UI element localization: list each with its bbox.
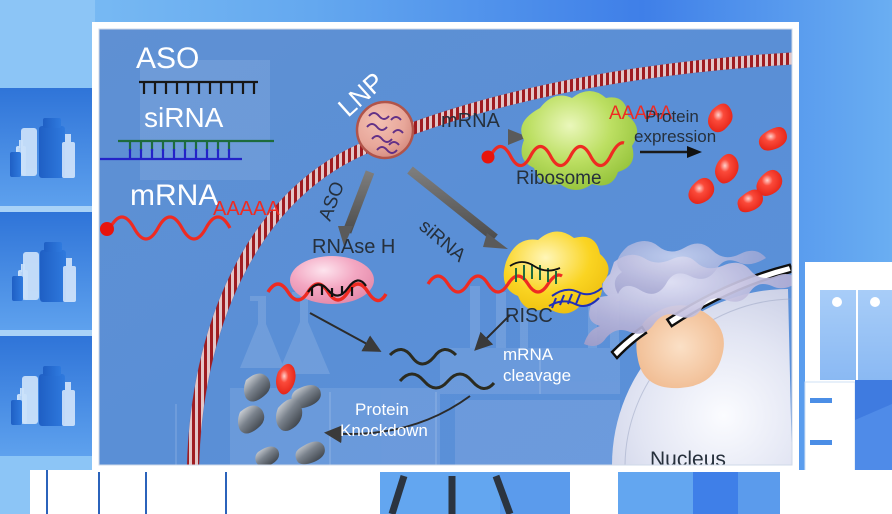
legend-aso-label: ASO	[136, 42, 199, 75]
diagram-canvas: ASO siRNA	[0, 0, 892, 514]
protein-expression-label-2: expression	[634, 127, 716, 146]
cell-diagram-panel: ASO siRNA	[0, 0, 892, 514]
mrna-cleavage-label-1: mRNA	[503, 345, 554, 364]
protein-expression-label-1: Protein	[645, 107, 699, 126]
mrna-cleavage-label-2: cleavage	[503, 366, 571, 385]
legend-mrna-label: mRNA	[130, 179, 218, 212]
mrna-cap	[100, 222, 114, 236]
rnase-h-label: RNAse H	[312, 236, 395, 258]
protein-knockdown-label-1: Protein	[355, 400, 409, 419]
ribosome-label: Ribosome	[516, 168, 602, 189]
protein-knockdown-label-2: Knockdown	[340, 421, 428, 440]
route-arrow-mrna-label: mRNA	[441, 110, 501, 132]
mrna-polya-label: AAAAA	[213, 198, 280, 220]
legend-sirna-label: siRNA	[144, 102, 224, 133]
risc-label: RISC	[505, 305, 553, 327]
